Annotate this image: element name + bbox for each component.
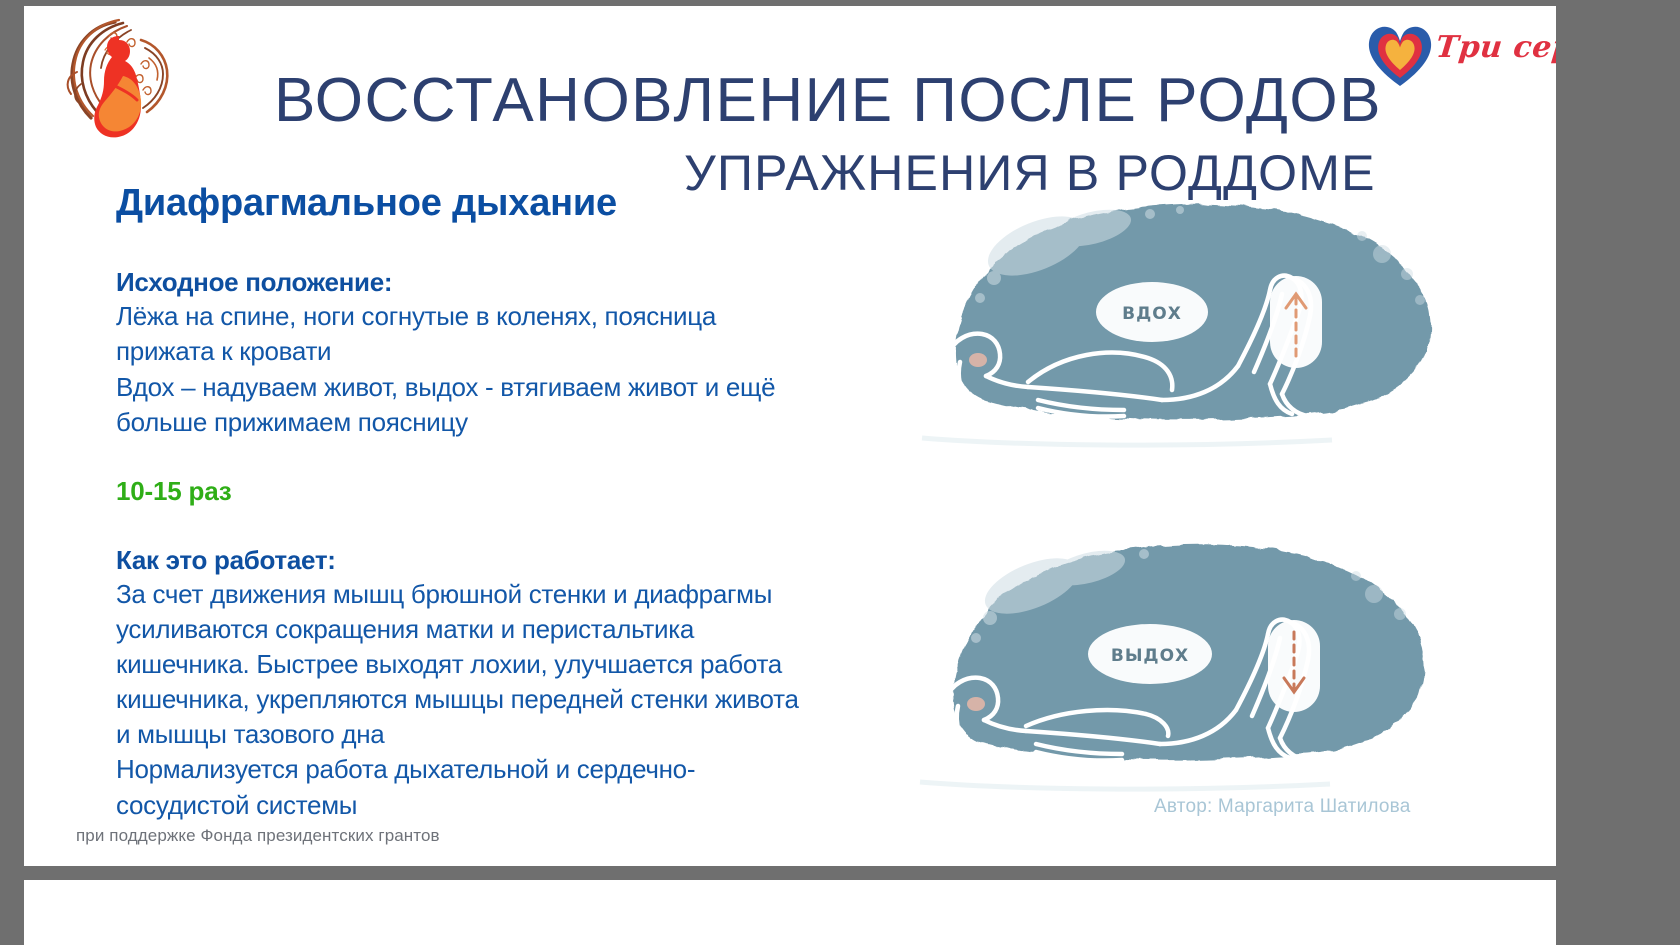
exhale-illustration: ВЫДОХ bbox=[862, 526, 1462, 806]
how-it-works-label: Как это работает: bbox=[116, 543, 876, 577]
section-heading: Диафрагмальное дыхание bbox=[116, 182, 876, 225]
screenshot-root: Три сердца ВОССТАНОВЛЕНИЕ ПОСЛЕ РОДОВ УП… bbox=[0, 0, 1680, 945]
slide-canvas: Три сердца ВОССТАНОВЛЕНИЕ ПОСЛЕ РОДОВ УП… bbox=[24, 6, 1556, 866]
repetitions-count: 10-15 раз bbox=[116, 476, 876, 507]
start-position-line: прижата к кровати bbox=[116, 334, 876, 369]
exhale-breath-label: ВЫДОХ bbox=[1111, 646, 1189, 666]
author-credit: Автор: Маргарита Шатилова bbox=[1154, 796, 1411, 818]
content-column: Диафрагмальное дыхание Исходное положени… bbox=[116, 182, 876, 823]
right-gutter bbox=[1556, 0, 1680, 945]
start-position-label: Исходное положение: bbox=[116, 265, 876, 299]
page-title: ВОССТАНОВЛЕНИЕ ПОСЛЕ РОДОВ bbox=[274, 70, 1382, 132]
how-it-works-line: За счет движения мышц брюшной стенки и д… bbox=[116, 577, 876, 612]
how-it-works-line: и мышцы тазового дна bbox=[116, 717, 876, 752]
inhale-breath-label: ВДОХ bbox=[1122, 304, 1182, 324]
start-position-line: Лёжа на спине, ноги согнутые в коленях, … bbox=[116, 299, 876, 334]
how-it-works-block: Как это работает: За счет движения мышц … bbox=[116, 543, 876, 823]
how-it-works-line: кишечника. Быстрее выходят лохии, улучша… bbox=[116, 647, 876, 682]
three-hearts-brand-text: Три сердца bbox=[1434, 30, 1556, 65]
bottom-white-strip bbox=[24, 880, 1556, 945]
three-hearts-logo: Три сердца bbox=[1362, 20, 1552, 92]
how-it-works-line: Нормализуется работа дыхательной и серде… bbox=[116, 752, 876, 787]
how-it-works-line: сосудистой системы bbox=[116, 788, 876, 823]
inhale-illustration: ВДОХ bbox=[862, 194, 1462, 464]
how-it-works-line: кишечника, укрепляются мышцы передней ст… bbox=[116, 682, 876, 717]
how-it-works-line: усиливаются сокращения матки и перисталь… bbox=[116, 612, 876, 647]
grant-support-note: при поддержке Фонда президентских гранто… bbox=[76, 826, 440, 846]
start-position-block: Исходное положение: Лёжа на спине, ноги … bbox=[116, 265, 876, 440]
pregnant-woman-heart-logo bbox=[57, 14, 177, 142]
start-position-line: больше прижимаем поясницу bbox=[116, 405, 876, 440]
start-position-line: Вдох – надуваем живот, выдох - втягиваем… bbox=[116, 370, 876, 405]
